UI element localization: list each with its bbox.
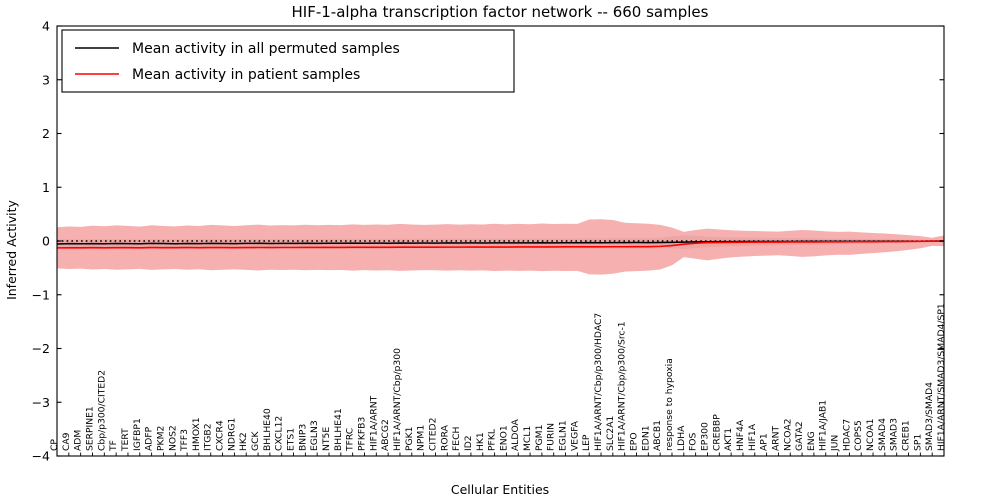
x-tick-label: CXCR4 bbox=[215, 420, 226, 451]
x-tick-label: CITED2 bbox=[427, 418, 438, 451]
x-tick-label: EGLN1 bbox=[558, 420, 569, 451]
x-tick-label: RORA bbox=[439, 424, 450, 451]
y-tick-label: −4 bbox=[32, 449, 50, 464]
x-tick-label: HIF1A/ARNT/Cbp/p300/Src-1 bbox=[617, 321, 628, 451]
x-tick-label: SLC2A1 bbox=[605, 416, 616, 451]
figure-container: HIF-1-alpha transcription factor network… bbox=[0, 0, 1000, 500]
x-tick-label: SERPINE1 bbox=[84, 406, 95, 451]
chart-title: HIF-1-alpha transcription factor network… bbox=[292, 3, 709, 21]
y-tick-label: 0 bbox=[42, 234, 50, 249]
x-tick-label: HIF1A/ARNT/Cbp/p300 bbox=[392, 348, 403, 451]
x-tick-label: BHLHE40 bbox=[262, 408, 273, 451]
x-tick-label: EDN1 bbox=[640, 425, 651, 451]
x-tick-label: ADM bbox=[73, 430, 84, 451]
x-tick-label: EGLN3 bbox=[309, 420, 320, 451]
x-tick-label: ID2 bbox=[463, 435, 474, 451]
y-tick-label: 4 bbox=[42, 19, 50, 34]
x-tick-label: EPO bbox=[629, 432, 640, 451]
chart-legend: Mean activity in all permuted samples Me… bbox=[62, 30, 514, 92]
x-tick-label: SP1 bbox=[912, 434, 923, 451]
x-tick-label: FURIN bbox=[546, 423, 557, 451]
chart-canvas: HIF-1-alpha transcription factor network… bbox=[0, 0, 1000, 500]
x-tick-label: NT5E bbox=[321, 427, 332, 451]
x-tick-label: NPM1 bbox=[416, 425, 427, 451]
x-tick-label: PKM2 bbox=[155, 426, 166, 451]
x-tick-label: NCOA1 bbox=[865, 419, 876, 452]
y-axis-label: Inferred Activity bbox=[4, 199, 19, 299]
x-tick-label: PFKL bbox=[487, 428, 498, 451]
x-tick-label: SMAD4 bbox=[877, 418, 888, 451]
x-tick-label: EP300 bbox=[699, 422, 710, 451]
x-tick-label: response to hypoxia bbox=[664, 358, 675, 451]
y-tick-label: 3 bbox=[42, 72, 50, 87]
y-tick-label: −3 bbox=[32, 395, 50, 410]
x-tick-label: CP bbox=[49, 439, 60, 451]
y-tick-label: −2 bbox=[32, 341, 50, 356]
x-tick-label: CA9 bbox=[61, 432, 72, 451]
x-tick-label: ENG bbox=[806, 431, 817, 451]
x-tick-label: Cbp/p300/CITED2 bbox=[96, 370, 107, 451]
x-tick-label: ETS1 bbox=[286, 428, 297, 451]
legend-label-patient: Mean activity in patient samples bbox=[132, 67, 360, 83]
x-tick-label: TERT bbox=[120, 428, 131, 452]
x-tick-label: FOS bbox=[688, 432, 699, 451]
x-tick-label: FECH bbox=[451, 427, 462, 451]
x-tick-label: TFRC bbox=[345, 428, 356, 452]
x-tick-label: VEGFA bbox=[569, 420, 580, 451]
y-tick-label: 1 bbox=[42, 180, 50, 195]
x-tick-label: BNIP3 bbox=[297, 424, 308, 451]
legend-label-permuted: Mean activity in all permuted samples bbox=[132, 41, 400, 57]
x-tick-label: NOS2 bbox=[167, 425, 178, 451]
x-tick-label: CREBBP bbox=[711, 414, 722, 451]
x-tick-label: HIF1A bbox=[747, 423, 758, 451]
x-tick-label: PGK1 bbox=[404, 426, 415, 451]
x-tick-label: ARNT bbox=[770, 425, 781, 451]
x-tick-label: ABCB1 bbox=[652, 420, 663, 451]
x-tick-label: HDAC7 bbox=[841, 419, 852, 451]
x-tick-label: HNF4A bbox=[735, 419, 746, 451]
x-tick-label: HK2 bbox=[238, 432, 249, 451]
x-tick-label: PFKFB3 bbox=[356, 417, 367, 451]
x-tick-label: ABCG2 bbox=[380, 419, 391, 451]
x-tick-label: HIF1A/ARNT/SMAD3/SMAD4/SP1 bbox=[936, 303, 947, 451]
x-tick-label: HIF1A/ARNT/Cbp/p300/HDAC7 bbox=[593, 313, 604, 451]
x-tick-label: COPS5 bbox=[853, 420, 864, 451]
x-tick-label: LDHA bbox=[676, 425, 687, 451]
x-tick-label: JUN bbox=[830, 435, 841, 452]
x-tick-label: ADFP bbox=[144, 426, 155, 451]
x-tick-label: HMOX1 bbox=[191, 417, 202, 451]
x-tick-label: SMAD3/SMAD4 bbox=[924, 382, 935, 451]
x-tick-label: NCOA2 bbox=[782, 419, 793, 452]
x-tick-label: CXCL12 bbox=[274, 416, 285, 451]
x-tick-label: AP1 bbox=[759, 433, 770, 451]
x-tick-label: GATA2 bbox=[794, 421, 805, 451]
x-tick-label: HIF1A/JAB1 bbox=[818, 400, 829, 451]
x-tick-label: NDRG1 bbox=[226, 418, 237, 451]
x-tick-label: SMAD3 bbox=[889, 418, 900, 451]
x-tick-label: ENO1 bbox=[498, 425, 509, 451]
x-tick-label: HIF1A/ARNT bbox=[368, 395, 379, 451]
x-tick-label: PGM1 bbox=[534, 425, 545, 451]
x-tick-label: ALDOA bbox=[510, 418, 521, 451]
x-tick-label: LEP bbox=[581, 434, 592, 451]
x-tick-label: MCL1 bbox=[522, 426, 533, 451]
x-tick-label: GCK bbox=[250, 430, 261, 451]
x-tick-label: HK1 bbox=[475, 432, 486, 451]
x-tick-label: ITGB2 bbox=[203, 423, 214, 451]
y-tick-label: −1 bbox=[32, 287, 50, 302]
x-axis-label: Cellular Entities bbox=[451, 482, 549, 497]
x-tick-label: CREB1 bbox=[901, 420, 912, 451]
x-tick-label: AKT1 bbox=[723, 428, 734, 451]
x-tick-label: TF bbox=[108, 440, 119, 452]
x-tick-label: BHLHE41 bbox=[333, 408, 344, 451]
y-tick-label: 2 bbox=[42, 126, 50, 141]
x-tick-label: IGFBP1 bbox=[132, 418, 143, 451]
x-tick-label: TFF3 bbox=[179, 429, 190, 452]
